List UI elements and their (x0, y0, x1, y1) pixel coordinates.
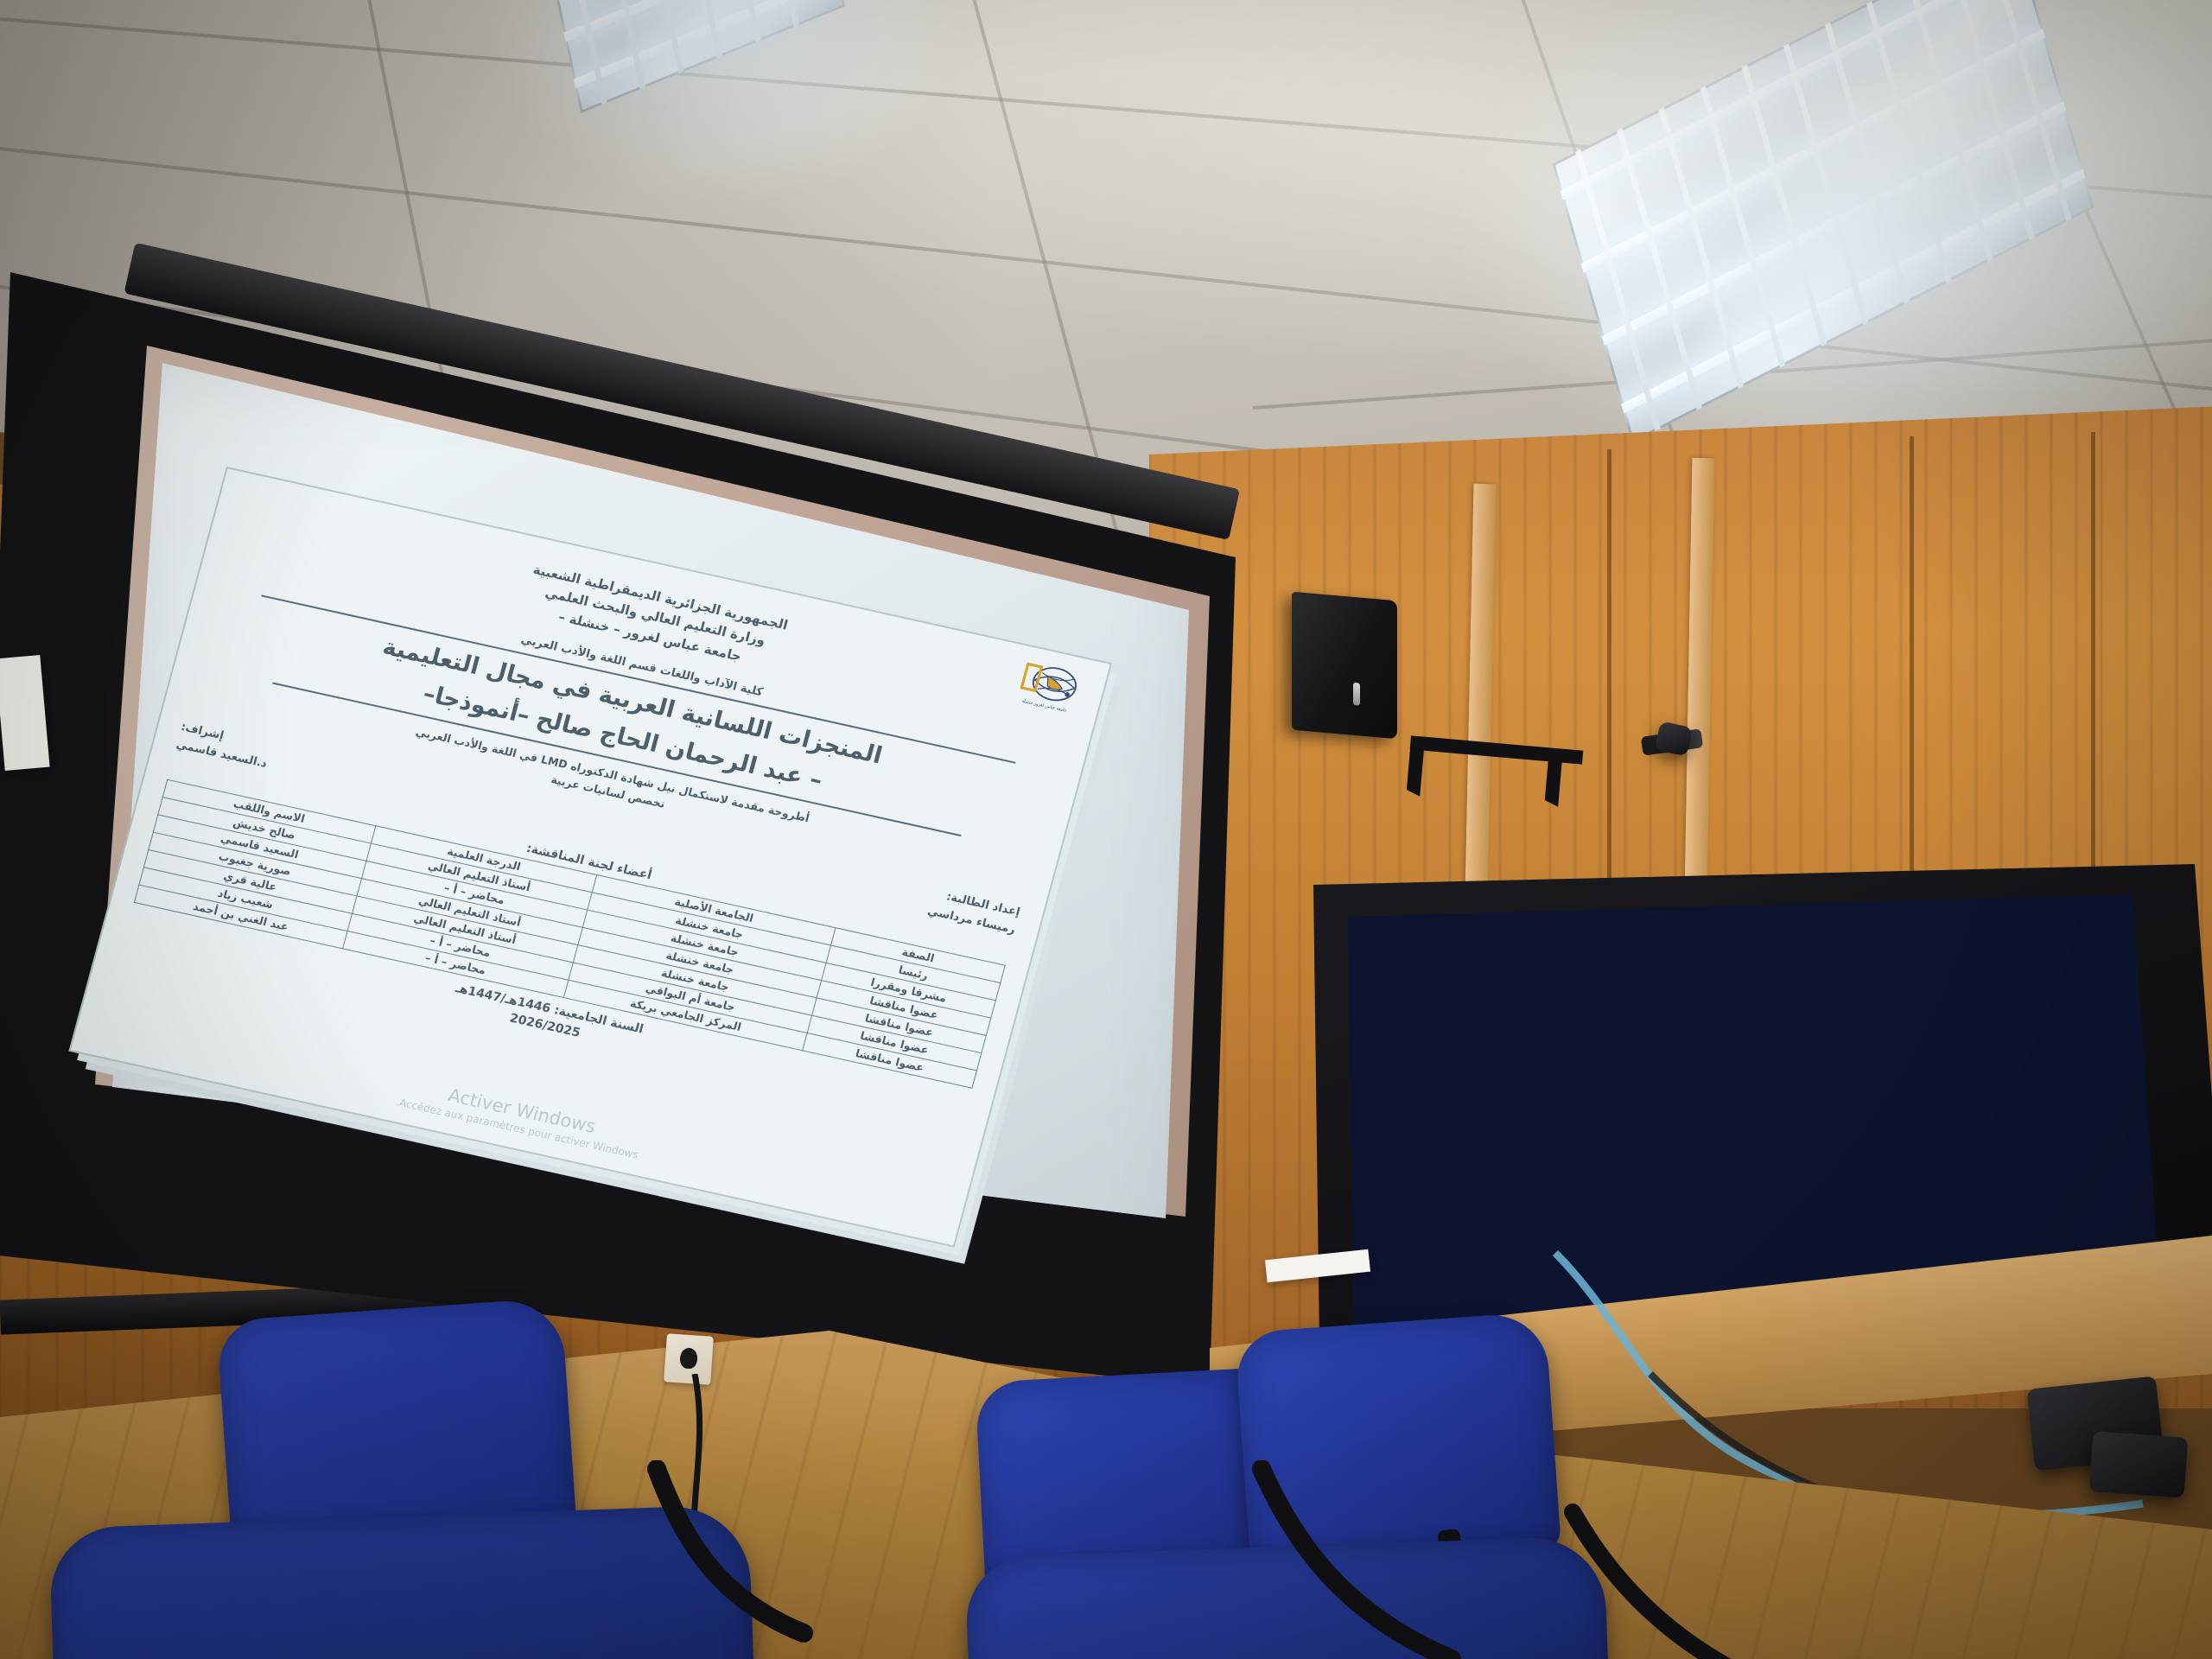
speaker-badge-icon (1353, 683, 1360, 706)
chair-seat (964, 1535, 1610, 1659)
chair-seat (48, 1504, 755, 1659)
watermark-subtitle: Accédez aux paramètres pour activer Wind… (395, 1096, 640, 1161)
equipment-box (2089, 1431, 2189, 1498)
watermark-title: Activer Windows (398, 1074, 645, 1147)
conference-chair (968, 1547, 1624, 1659)
wall-speaker (1292, 592, 1397, 740)
conference-chair (52, 1516, 769, 1659)
tv-mirrored-slide: الجمهورية الجزائرية الديمقراطية الشعبية … (1367, 894, 2012, 1281)
lecture-room-photo: جامعة عباس لغرور خنشلة الجمهورية الجزائر… (0, 0, 2212, 1659)
power-outlet (664, 1333, 714, 1385)
chair-back (1235, 1312, 1562, 1574)
outlet-socket-icon (679, 1347, 698, 1369)
windows-activation-watermark: Activer Windows Accédez aux paramètres p… (395, 1074, 645, 1161)
